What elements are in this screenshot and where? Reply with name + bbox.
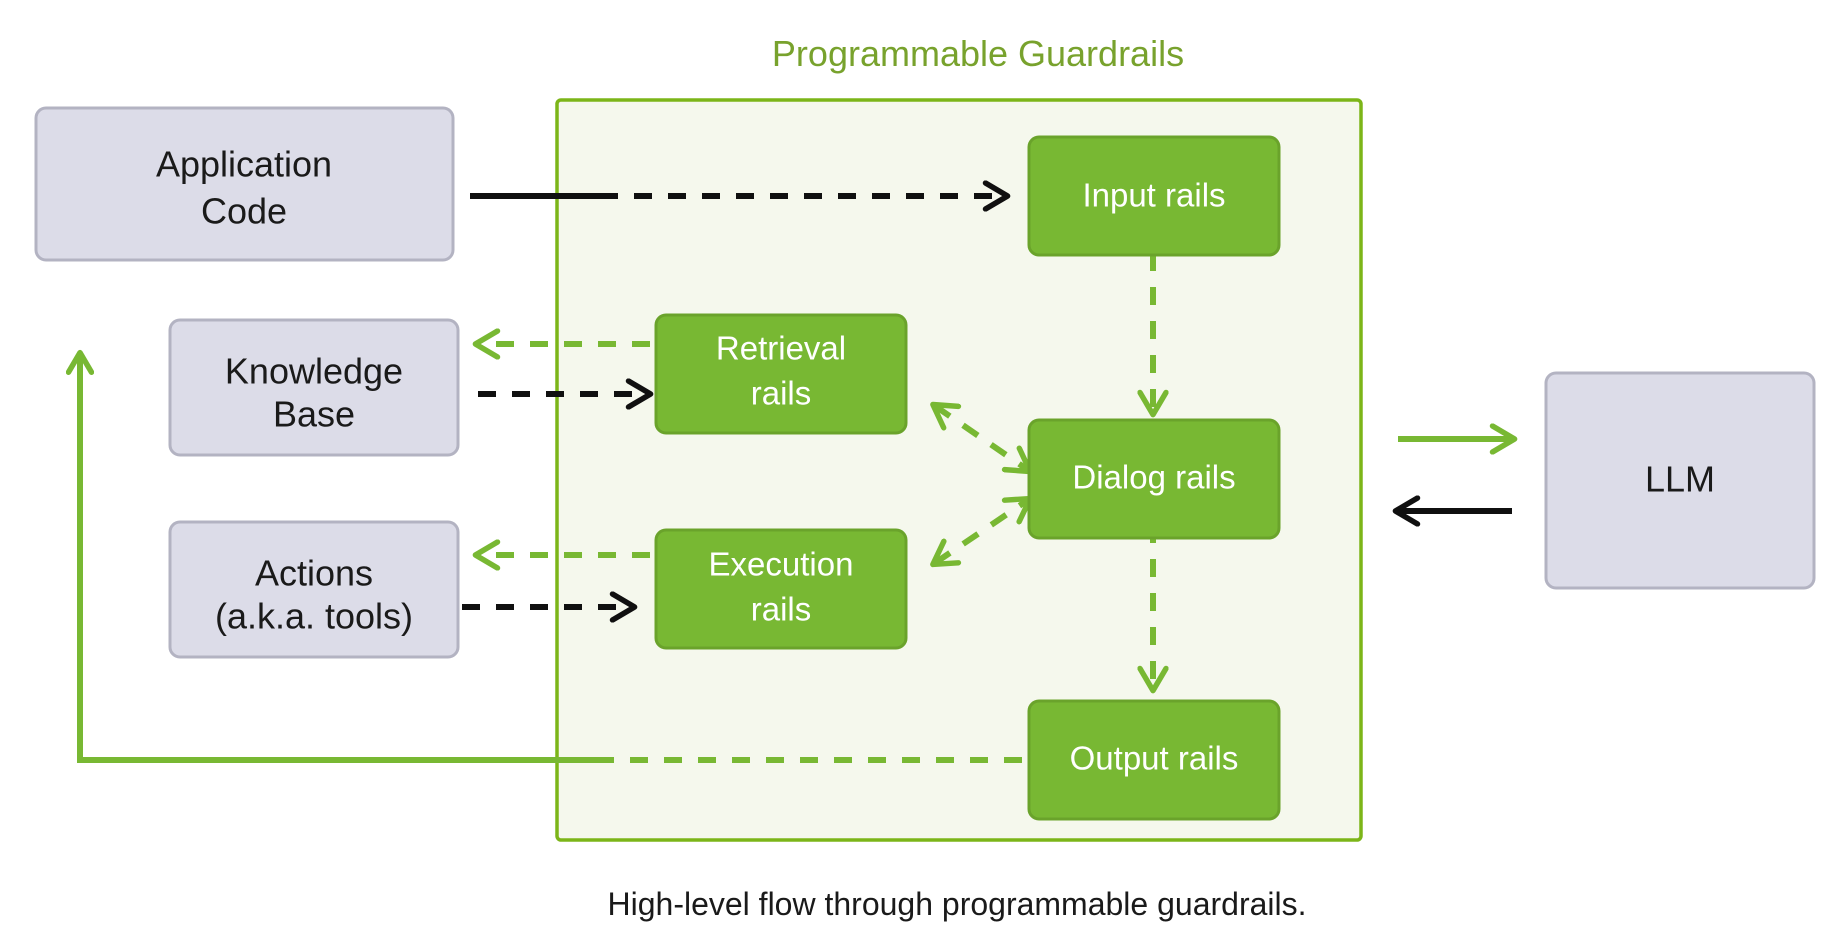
node-llm[interactable]: LLM — [1546, 373, 1814, 588]
node-output-rails[interactable]: Output rails — [1029, 701, 1279, 819]
retrieval-rails-label-line1: Retrieval — [716, 330, 846, 367]
output-rails-label: Output rails — [1070, 740, 1239, 777]
application-code-label-line1: Application — [156, 144, 332, 185]
execution-rails-label-line2: rails — [751, 591, 812, 628]
application-code-label-line2: Code — [201, 191, 287, 232]
knowledge-base-label-line1: Knowledge — [225, 351, 403, 392]
node-dialog-rails[interactable]: Dialog rails — [1029, 420, 1279, 538]
node-retrieval-rails[interactable]: Retrieval rails — [656, 315, 906, 433]
figure-caption: High-level flow through programmable gua… — [608, 886, 1307, 922]
input-rails-label: Input rails — [1082, 177, 1225, 214]
retrieval-rails-label-line2: rails — [751, 375, 812, 412]
node-application-code[interactable]: Application Code — [36, 108, 453, 260]
node-execution-rails[interactable]: Execution rails — [656, 530, 906, 648]
dialog-rails-label: Dialog rails — [1072, 459, 1235, 496]
actions-label-line2: (a.k.a. tools) — [215, 596, 413, 637]
actions-label-line1: Actions — [255, 553, 373, 594]
knowledge-base-label-line2: Base — [273, 394, 355, 435]
execution-rails-label-line1: Execution — [709, 546, 854, 583]
llm-label: LLM — [1645, 459, 1715, 500]
node-knowledge-base[interactable]: Knowledge Base — [170, 320, 458, 455]
page-title: Programmable Guardrails — [772, 33, 1184, 74]
node-actions[interactable]: Actions (a.k.a. tools) — [170, 522, 458, 657]
guardrails-diagram: Programmable Guardrails — [0, 0, 1826, 940]
node-input-rails[interactable]: Input rails — [1029, 137, 1279, 255]
